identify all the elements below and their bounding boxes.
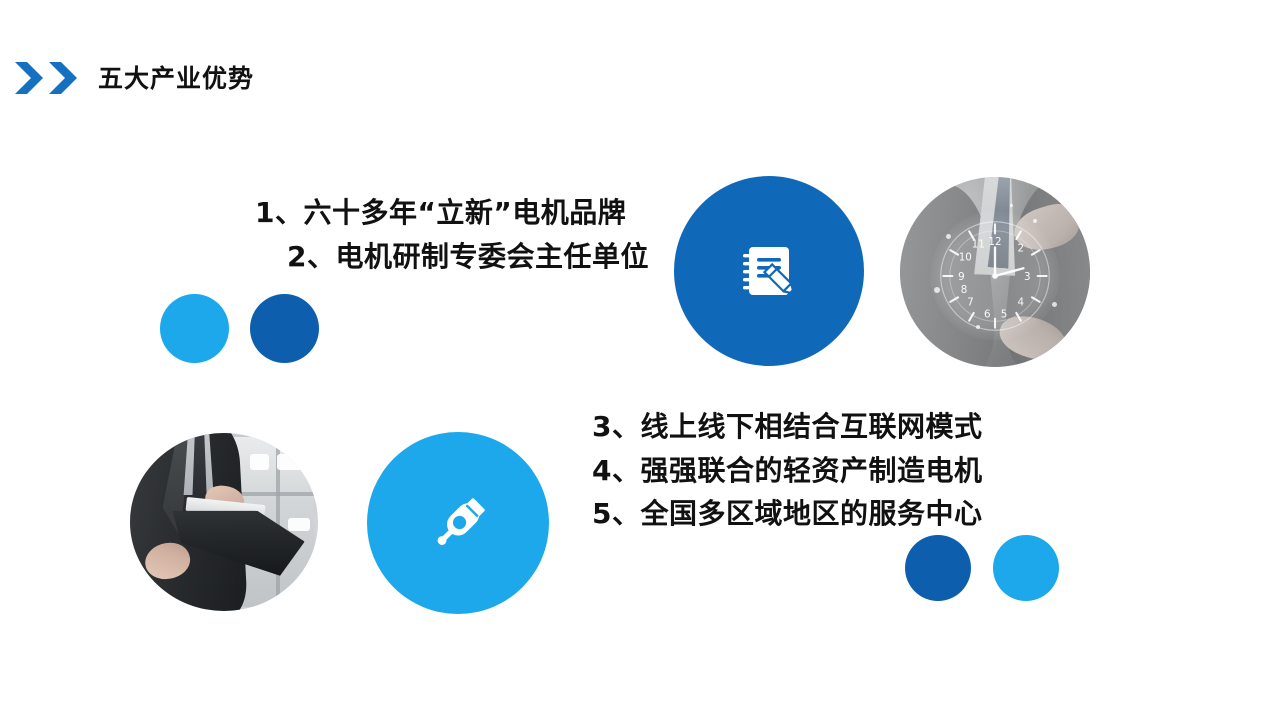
pen-nib-icon [425,490,491,556]
accent-dot-light-blue [160,294,229,363]
page-title: 五大产业优势 [98,66,254,91]
photo-businessman-clock: 12 2 3 4 5 6 7 8 9 10 11 [900,177,1090,367]
photo-detail [250,454,269,470]
list-item: 5、全国多区域地区的服务中心 [592,492,982,536]
svg-text:11: 11 [972,238,985,250]
list-item: 3、线上线下相结合互联网模式 [592,405,982,449]
photo-detail [1033,219,1037,223]
svg-text:7: 7 [967,297,974,309]
list-item: 2、电机研制专委会主任单位 [255,235,649,279]
svg-text:10: 10 [959,251,972,263]
accent-dot-deep-blue [250,294,319,363]
advantages-list-bottom: 3、线上线下相结合互联网模式 4、强强联合的轻资产制造电机 5、全国多区域地区的… [592,405,982,536]
photo-detail [946,234,951,239]
svg-text:12: 12 [988,236,1001,248]
list-item: 4、强强联合的轻资产制造电机 [592,449,982,493]
photo-businessman-folder [130,433,318,611]
svg-text:2: 2 [1018,242,1025,254]
svg-text:5: 5 [1001,308,1008,320]
svg-text:8: 8 [961,284,968,296]
double-chevron-right-icon [14,61,78,95]
photo-detail [288,518,311,530]
icon-circle-notepad [674,176,864,366]
list-item: 1、六十多年“立新”电机品牌 [255,191,649,235]
icon-circle-pen-nib [367,432,549,614]
svg-text:4: 4 [1018,297,1025,309]
photo-detail: 12 2 3 4 5 6 7 8 9 10 11 [930,211,1059,340]
advantages-list-top: 1、六十多年“立新”电机品牌 2、电机研制专委会主任单位 [255,191,649,278]
svg-text:9: 9 [958,271,965,283]
svg-text:6: 6 [984,308,991,320]
photo-detail [277,454,307,470]
photo-detail [1010,204,1013,207]
slide-header: 五大产业优势 [14,55,254,101]
svg-text:3: 3 [1024,271,1031,283]
accent-dot-deep-blue [905,535,971,601]
slide-canvas: 五大产业优势 1、六十多年“立新”电机品牌 2、电机研制专委会主任单位 3、线上… [0,0,1280,720]
notepad-pencil-icon [737,239,801,303]
accent-dot-light-blue [993,535,1059,601]
